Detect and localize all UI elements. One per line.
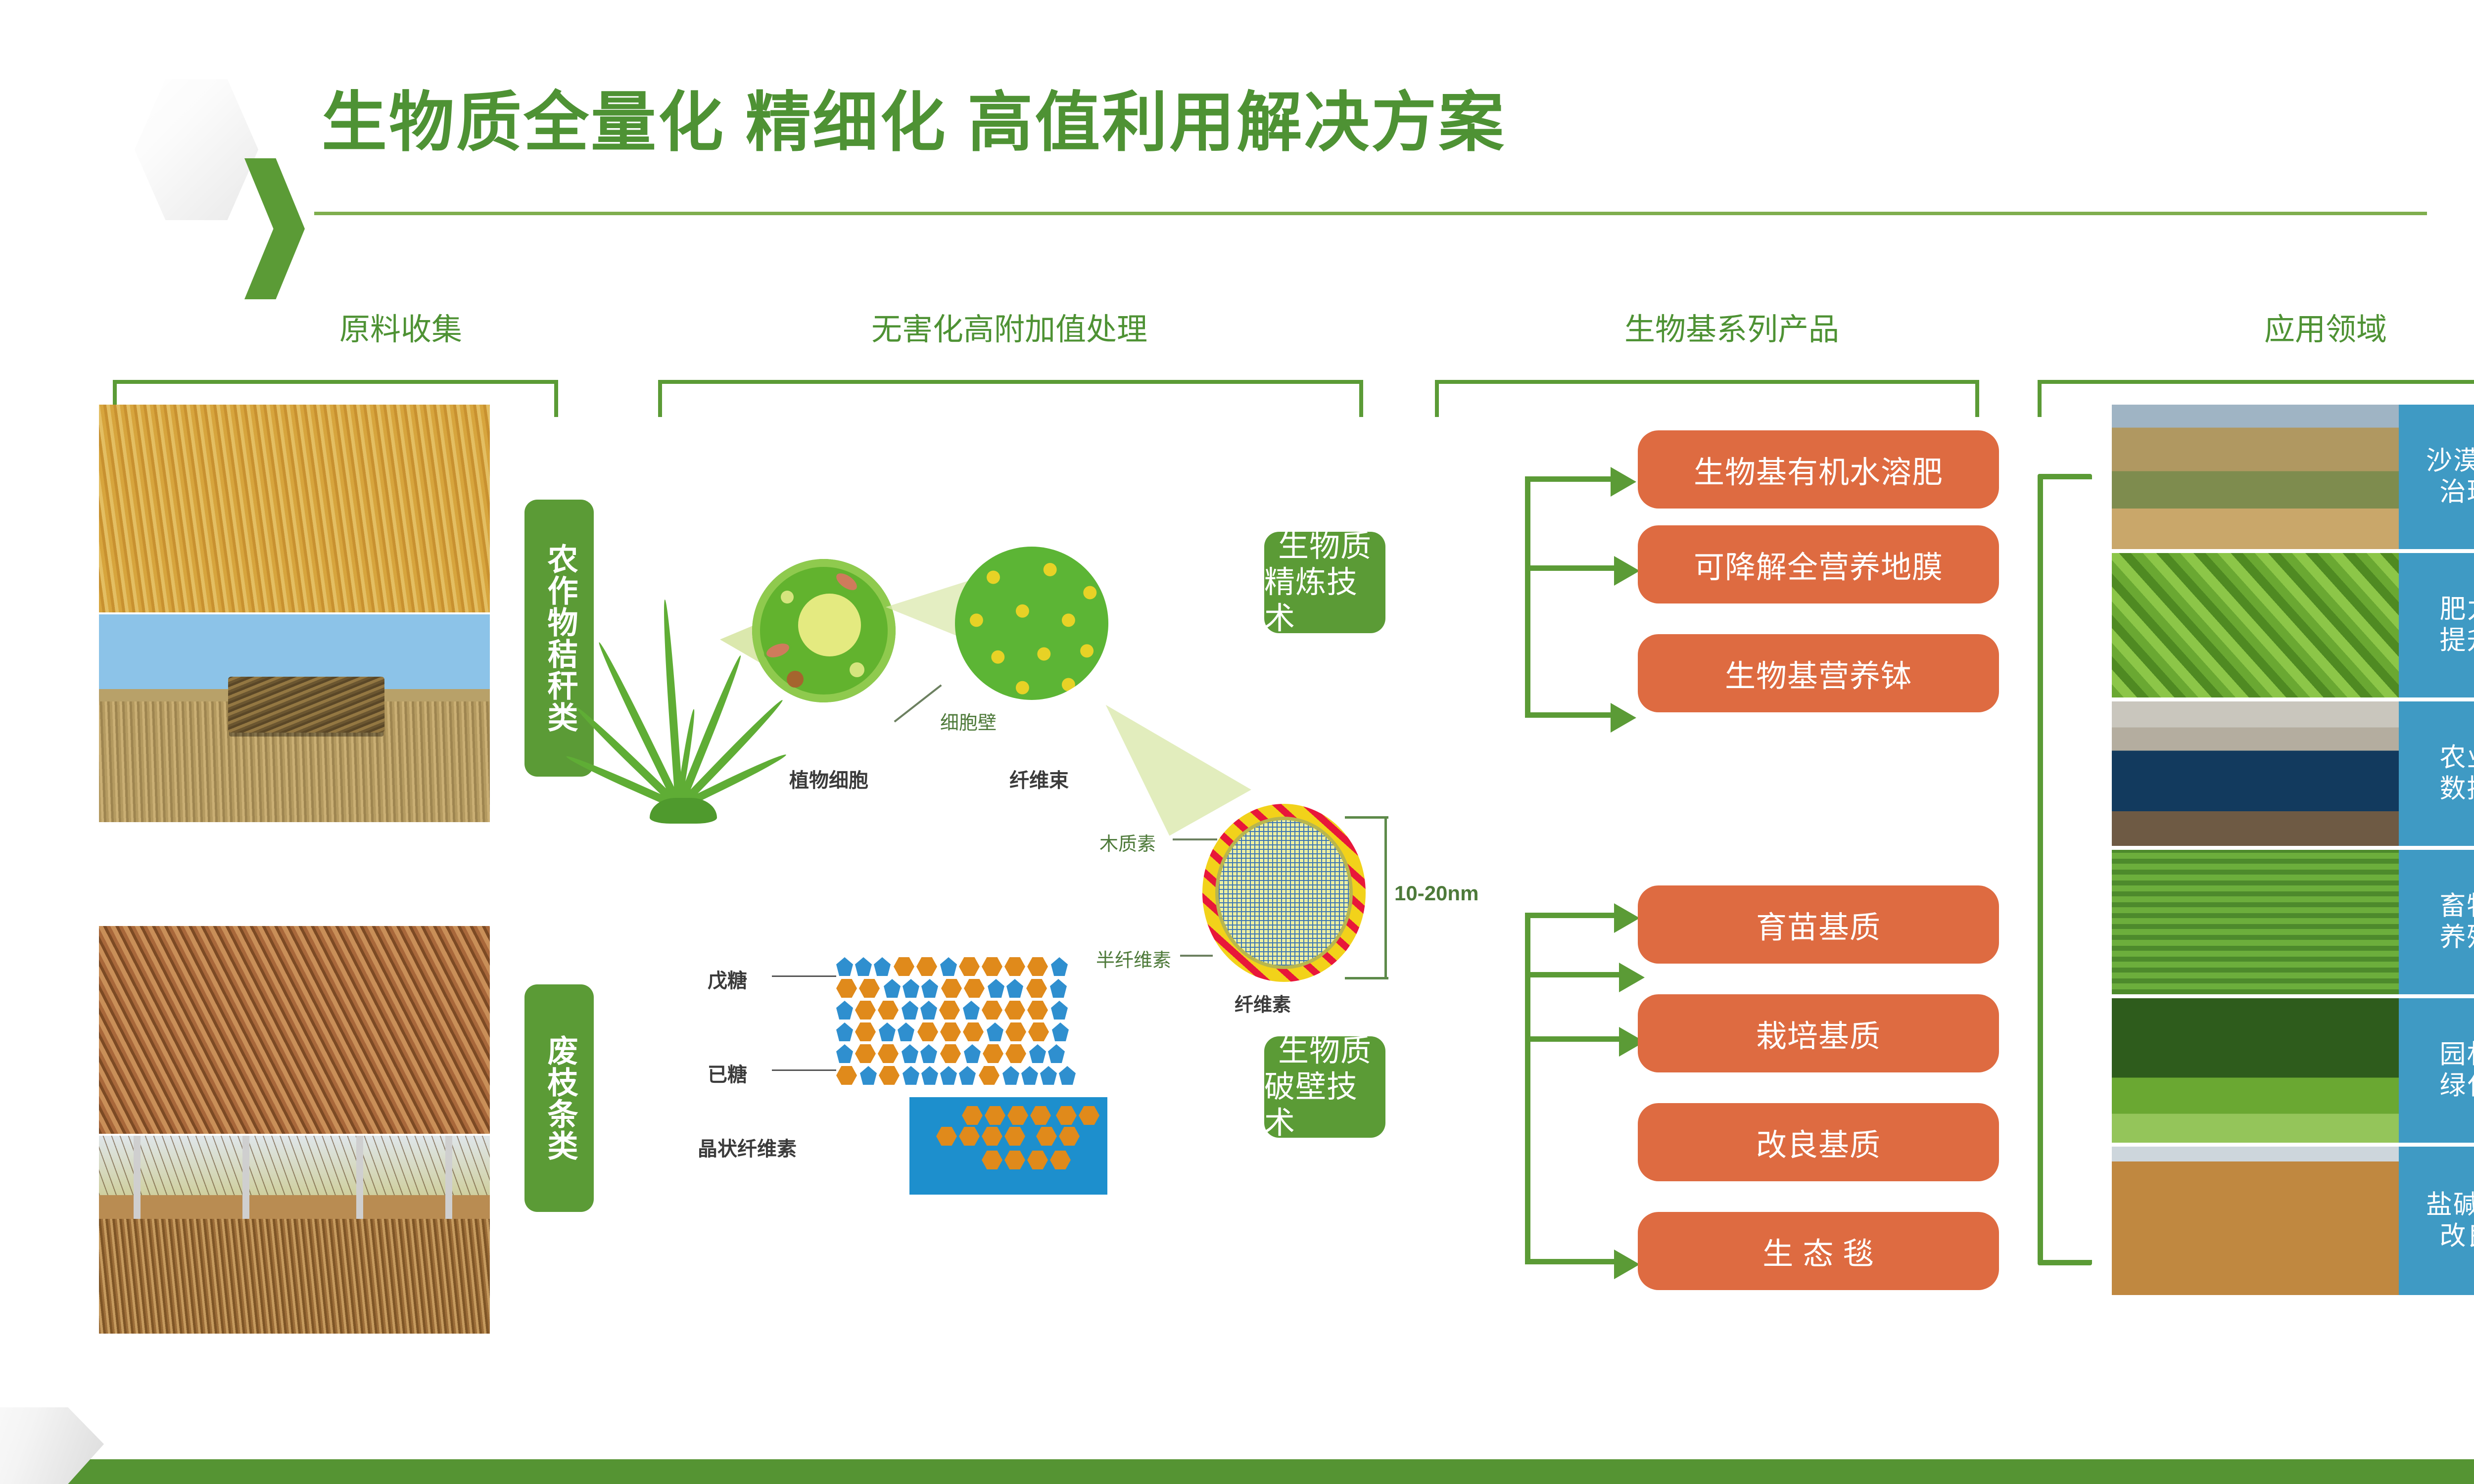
saline-soil-photo [2112, 1147, 2399, 1295]
application-row-landscaping[interactable]: 园林 绿化 [2112, 998, 2474, 1143]
data-control-room-photo [2112, 701, 2399, 846]
bracket-products-to-applications [2038, 474, 2092, 1265]
desert-control-photo [2112, 405, 2399, 549]
orchard-post [445, 1136, 452, 1258]
vacuole [781, 591, 794, 603]
dimension-tick-bottom [1345, 977, 1388, 979]
product-box-cultivation-substrate[interactable]: 栽培基质 [1638, 994, 1999, 1072]
application-label-desertification: 沙漠化 治理 [2399, 405, 2474, 549]
application-label-landscaping: 园林 绿化 [2399, 998, 2474, 1143]
leader-line-lignin [1173, 838, 1217, 840]
tech-refining-line1: 生物质 [1278, 528, 1372, 564]
connector-trunk-wallbreaking [1525, 913, 1530, 1264]
label-lignin: 木质素 [1099, 829, 1156, 856]
tech-wallbreaking-line1: 生物质 [1278, 1033, 1372, 1069]
app-label-line2: 养殖 [2440, 922, 2474, 953]
sugar-chain-diagram [836, 957, 1098, 1106]
app-label-line2: 提升 [2440, 625, 2474, 656]
application-row-saline-soil[interactable]: 盐碱地 改良 [2112, 1147, 2474, 1295]
orchard-post [242, 1136, 249, 1258]
application-row-fertility[interactable]: 肥力 提升 [2112, 553, 2474, 697]
section-title-applications: 应用领域 [2113, 304, 2474, 349]
arrow-wallbreaking-1 [1614, 903, 1640, 933]
orchard-post [356, 1136, 363, 1258]
application-label-fertility: 肥力 提升 [2399, 553, 2474, 697]
section-title-bio-products: 生物基系列产品 [1484, 304, 1979, 349]
connector-branch-refining-2 [1525, 565, 1619, 571]
fiber-bundle-diagram [955, 547, 1108, 700]
hexagon-chevron-logo [135, 79, 305, 220]
leader-line-hexose [772, 1069, 836, 1071]
app-label-line2: 绿化 [2440, 1070, 2474, 1102]
tech-wallbreaking-line2: 破壁技术 [1264, 1069, 1385, 1141]
product-box-ecological-blanket[interactable]: 生 态 毯 [1638, 1212, 1999, 1290]
orchard-netting-lines [99, 1136, 490, 1195]
connector-trunk-refining [1525, 476, 1530, 718]
connector-branch-wallbreaking-1 [1525, 913, 1619, 918]
app-label-line2: 改良 [2440, 1221, 2474, 1252]
tech-box-wallbreaking[interactable]: 生物质 破壁技术 [1264, 1036, 1385, 1138]
product-box-improvement-substrate[interactable]: 改良基质 [1638, 1103, 1999, 1181]
product-box-degradable-mulch-film[interactable]: 可降解全营养地膜 [1638, 525, 1999, 603]
orchard-pruning-photo [99, 1136, 490, 1334]
label-hexose: 已糖 [708, 1059, 747, 1087]
section-title-processing: 无害化高附加值处理 [727, 304, 1291, 349]
plant-cell-diagram [752, 559, 896, 702]
cabbage-field-photo [2112, 553, 2399, 697]
zoom-cone-microfibril [1101, 705, 1254, 838]
plant-blade [676, 654, 744, 808]
product-box-seedling-substrate[interactable]: 育苗基质 [1638, 885, 1999, 964]
arrow-refining-1 [1611, 467, 1636, 497]
connector-branch-refining-1 [1525, 476, 1614, 482]
application-label-livestock: 畜牧 养殖 [2399, 850, 2474, 994]
dimension-tick-top [1345, 816, 1388, 819]
plastid [787, 671, 804, 688]
arrow-wallbreaking-2 [1619, 963, 1645, 992]
bracket-bio-products [1435, 380, 1979, 417]
application-row-desertification[interactable]: 沙漠化 治理 [2112, 405, 2474, 549]
pruned-branches-photo [99, 926, 490, 1134]
connector-branch-wallbreaking-3 [1525, 1036, 1624, 1042]
application-row-agri-data[interactable]: 农业 数据 [2112, 701, 2474, 846]
tech-refining-line2: 精炼技术 [1264, 564, 1385, 637]
plant-illustration [621, 537, 745, 824]
app-label-line2: 治理 [2440, 477, 2474, 508]
app-label-line1: 农业 [2440, 742, 2474, 774]
app-label-line1: 沙漠化 [2426, 446, 2474, 477]
product-box-water-soluble-fertilizer[interactable]: 生物基有机水溶肥 [1638, 430, 1999, 509]
product-box-nutrient-pot[interactable]: 生物基营养钵 [1638, 634, 1999, 712]
label-crystalline-cellulose: 晶状纤维素 [698, 1133, 797, 1161]
label-hemicellulose: 半纤维素 [1096, 945, 1171, 972]
category-label-waste-branches: 废枝条类 [524, 984, 594, 1212]
cellulose-core [1215, 817, 1353, 969]
application-label-saline-soil: 盐碱地 改良 [2399, 1147, 2474, 1295]
footer-bar [0, 1459, 2474, 1484]
app-label-line1: 畜牧 [2440, 891, 2474, 922]
dimension-line [1384, 816, 1387, 979]
crystalline-cellulose-diagram [909, 1097, 1107, 1195]
landscape-greening-photo [2112, 998, 2399, 1143]
corn-stalk-field-photo [99, 405, 490, 612]
application-column: 沙漠化 治理 肥力 提升 农业 数据 畜牧 养殖 园林 绿化 盐碱地 [2112, 405, 2474, 1335]
app-label-line1: 园林 [2440, 1039, 2474, 1070]
category-label-crop-straw: 农作物秸秆类 [524, 500, 594, 777]
connector-branch-wallbreaking-4 [1525, 1259, 1619, 1264]
cell-nucleus [798, 594, 861, 657]
page-header: 生物质全量化 精细化 高值利用解决方案 [0, 0, 2474, 232]
leader-line-cell-wall [894, 684, 942, 722]
label-pentose: 戊糖 [708, 965, 747, 993]
title-underline-rule [314, 212, 2427, 215]
leader-line-pentose [772, 975, 836, 977]
arrow-refining-2 [1614, 556, 1640, 586]
connector-branch-refining-3 [1525, 712, 1614, 718]
bracket-processing [658, 380, 1363, 417]
plant-base-tuft [650, 798, 717, 824]
vacuole [850, 662, 864, 677]
connector-branch-wallbreaking-2 [1525, 972, 1624, 977]
hexagon-icon [135, 79, 258, 220]
label-dimension: 10-20nm [1394, 881, 1478, 905]
application-row-livestock[interactable]: 畜牧 养殖 [2112, 850, 2474, 994]
microfibril-cross-section-diagram [1202, 804, 1366, 982]
straw-bale-field-photo [99, 614, 490, 822]
label-cell-wall: 细胞壁 [940, 707, 997, 735]
leader-line-hemicellulose [1180, 955, 1213, 957]
raw-material-photo-column [99, 405, 490, 1335]
orchard-post [134, 1136, 141, 1258]
arrow-wallbreaking-4 [1614, 1250, 1640, 1279]
application-label-agri-data: 农业 数据 [2399, 701, 2474, 846]
arrow-refining-3 [1611, 703, 1636, 733]
label-fiber-bundle: 纤维束 [1009, 764, 1069, 793]
chevron-right-icon [244, 158, 305, 299]
app-label-line1: 盐碱地 [2426, 1190, 2474, 1221]
sheep-grazing-photo [2112, 850, 2399, 994]
label-plant-cell: 植物细胞 [789, 764, 868, 793]
page-title: 生物质全量化 精细化 高值利用解决方案 [322, 87, 1506, 158]
app-label-line1: 肥力 [2440, 594, 2474, 625]
section-title-raw-material: 原料收集 [262, 304, 539, 349]
app-label-line2: 数据 [2440, 774, 2474, 805]
label-cellulose: 纤维素 [1235, 989, 1291, 1017]
tech-box-refining[interactable]: 生物质 精炼技术 [1264, 532, 1385, 633]
